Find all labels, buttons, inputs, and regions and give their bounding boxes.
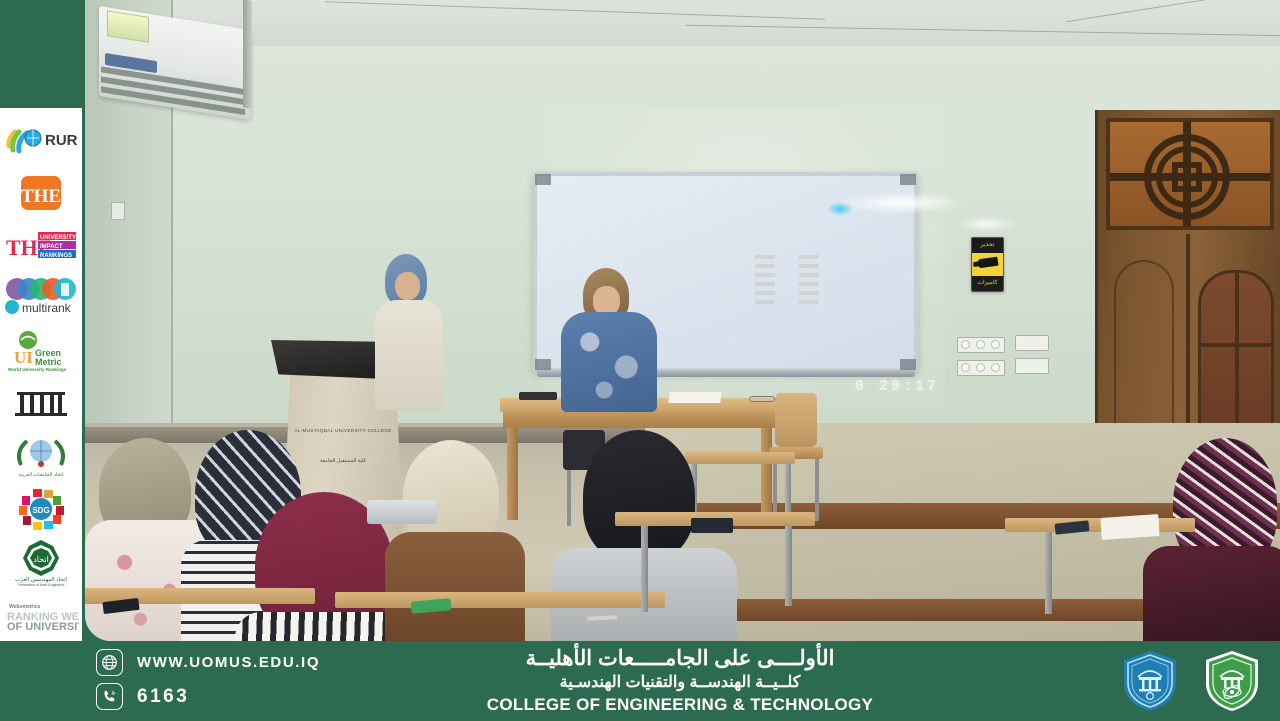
side-bench-top	[685, 452, 795, 464]
projector-timer: 0 29:17	[855, 378, 939, 395]
svg-text:IMPACT: IMPACT	[40, 244, 63, 250]
teacher-desk-apron	[503, 412, 777, 428]
wall-socket-group-4	[1015, 358, 1049, 374]
svg-text:Federation of Arab Engineers: Federation of Arab Engineers	[18, 583, 65, 587]
footer-titles: الأولــــى على الجامـــــعات الأهليــة ك…	[330, 646, 1030, 715]
footer-arabic-title-2: كلــيــة الهندســة والتقنيات الهندسـية	[330, 672, 1030, 694]
projector-blue-spot	[827, 202, 853, 216]
globe-www-icon	[96, 649, 123, 676]
the-impact-rankings-logo: THE UNIVERSITY IMPACT RANKINGS	[3, 221, 79, 270]
university-shield-logo-blue	[1116, 647, 1184, 715]
u-multirank-logo: multirank	[3, 274, 79, 323]
svg-text:اتحاد: اتحاد	[33, 555, 49, 564]
svg-text:multirank: multirank	[22, 301, 72, 315]
closed-laptop	[519, 392, 557, 400]
notebook-paper	[1100, 514, 1159, 540]
wall-switch-plate	[111, 202, 125, 220]
footer-website-row[interactable]: WWW.UOMUS.EDU.IQ	[96, 649, 320, 676]
smartphone	[691, 518, 733, 533]
teacher-desk-leg	[761, 428, 772, 514]
ac-sticker	[107, 10, 149, 43]
svg-text:UNIVERSITY: UNIVERSITY	[40, 235, 76, 241]
rankings-rail: RUR THE THE UNIVERSITY IMPACT RANKINGS	[0, 108, 82, 648]
seated-student-body	[385, 532, 525, 641]
footer-arabic-title-1: الأولــــى على الجامـــــعات الأهليــة	[330, 646, 1030, 672]
whiteboard-glare	[837, 192, 967, 214]
footer-phone-row[interactable]: 6163	[96, 683, 320, 710]
seated-student-body	[1143, 546, 1280, 641]
webometrics-logo: Webometrics RANKING WEB OF UNIVERSITIES	[3, 591, 79, 640]
cctv-warning-sign: تحذير كاميرات مراقبة	[971, 237, 1004, 292]
the-logo: THE	[3, 169, 79, 218]
svg-text:اتحاد المهندسين العرب: اتحاد المهندسين العرب	[15, 576, 67, 583]
svg-text:اتحاد الجامعات العربية: اتحاد الجامعات العربية	[18, 472, 63, 478]
laptop-silver	[367, 500, 437, 524]
svg-text:World University Rankings: World University Rankings	[8, 367, 67, 372]
ac-bracket	[243, 0, 252, 109]
ui-greenmetric-logo: UI Green Metric World University Ranking…	[3, 327, 79, 376]
footer-english-title: COLLEGE OF ENGINEERING & TECHNOLOGY	[330, 695, 1030, 715]
wall-socket-group-1	[957, 337, 1005, 353]
footer-website-label: WWW.UOMUS.EDU.IQ	[137, 654, 320, 671]
wall-socket-group-3	[1015, 335, 1049, 351]
footer-bar: WWW.UOMUS.EDU.IQ 6163 الأولــــى على الج…	[0, 641, 1280, 721]
svg-text:OF UNIVERSITIES: OF UNIVERSITIES	[7, 621, 79, 633]
footer-contacts: WWW.UOMUS.EDU.IQ 6163	[96, 649, 320, 710]
student-bench-top	[335, 592, 665, 608]
seated-student-head	[583, 430, 695, 562]
svg-text:SDG: SDG	[32, 506, 49, 515]
footer-phone-label: 6163	[137, 686, 189, 708]
event-photo: 0 29:17 تحذير كاميرات مراقبة	[85, 0, 1280, 641]
eyeglasses-right	[749, 396, 775, 402]
rur-logo: RUR	[3, 116, 79, 165]
sdg-goals-logo: SDG	[3, 485, 79, 534]
lectern-seal-top-text: AL-MUSTAQBAL UNIVERSITY COLLEGE	[283, 428, 403, 433]
cctv-sign-bottom-text: كاميرات مراقبة	[972, 276, 1003, 292]
lectern-seal-bottom-text: كلية المستقبل الجامعة	[283, 458, 403, 464]
instructor-body	[561, 312, 657, 412]
svg-text:Webometrics: Webometrics	[9, 604, 41, 610]
phone-icon	[96, 683, 123, 710]
wall-socket-group-2	[957, 360, 1005, 376]
teacher-desk-leg	[507, 428, 518, 520]
svg-text:RANKINGS: RANKINGS	[40, 253, 72, 259]
cctv-camera-icon	[977, 257, 998, 269]
svg-text:RUR: RUR	[45, 132, 77, 149]
ceiling	[85, 0, 1280, 46]
qs-rankings-logo	[3, 379, 79, 428]
federation-arab-engineers-logo: اتحاد اتحاد المهندسين العرب Federation o…	[3, 537, 79, 587]
cctv-sign-top-text: تحذير	[972, 238, 1003, 253]
footer-logos	[1116, 647, 1266, 715]
college-shield-logo-green	[1198, 647, 1266, 715]
poster-root: RUR THE THE UNIVERSITY IMPACT RANKINGS	[0, 0, 1280, 721]
svg-text:THE: THE	[21, 186, 61, 207]
svg-text:UI: UI	[14, 348, 33, 367]
door-grille	[1106, 118, 1274, 230]
whiteboard-glare-2	[957, 216, 1017, 232]
association-arab-universities-logo: اتحاد الجامعات العربية	[3, 432, 79, 481]
student-presenter-body	[375, 300, 443, 410]
chair-backrest[interactable]	[775, 393, 817, 447]
paper-sheet	[668, 392, 722, 403]
student-presenter-face	[395, 272, 420, 300]
svg-text:Metric: Metric	[35, 357, 62, 367]
